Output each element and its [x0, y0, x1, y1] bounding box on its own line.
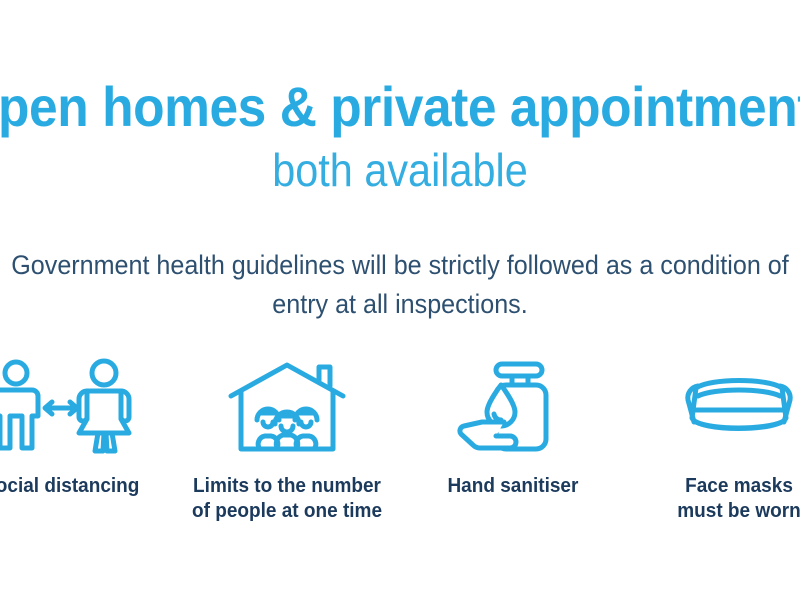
caption-line-1: Social distancing: [0, 475, 139, 497]
page-title: Open homes & private appointments: [0, 78, 800, 137]
body-paragraph-line-1: Government health guidelines will be str…: [0, 246, 800, 285]
body-paragraph-line-2: entry at all inspections.: [0, 285, 800, 324]
body-paragraph: Government health guidelines will be str…: [0, 246, 800, 324]
guideline-caption-face-mask: Face masks must be worn: [677, 474, 800, 524]
hand-sanitiser-icon: [458, 360, 568, 452]
guidelines-icon-row: Social distancing: [0, 360, 800, 524]
guideline-caption-social-distancing: Social distancing: [0, 474, 139, 499]
guideline-item-hand-sanitiser: Hand sanitiser: [400, 360, 626, 499]
guideline-item-social-distancing: Social distancing: [0, 360, 174, 499]
caption-line-1: Limits to the number: [193, 475, 381, 497]
poster-canvas: Open homes & private appointments both a…: [0, 0, 800, 600]
caption-line-2: must be worn: [677, 500, 800, 522]
caption-line-1: Hand sanitiser: [448, 475, 579, 497]
page-subtitle: both available: [0, 145, 800, 196]
guideline-item-people-limit: Limits to the number of people at one ti…: [174, 360, 400, 524]
social-distancing-icon: [0, 360, 136, 452]
guideline-caption-people-limit: Limits to the number of people at one ti…: [192, 474, 382, 524]
guideline-caption-hand-sanitiser: Hand sanitiser: [448, 474, 579, 499]
house-with-people-icon: [227, 360, 347, 452]
caption-line-2: of people at one time: [192, 500, 382, 522]
headline-block: Open homes & private appointments both a…: [0, 78, 800, 195]
guideline-item-face-mask: Face masks must be worn: [626, 360, 800, 524]
face-mask-icon: [674, 360, 800, 452]
caption-line-1: Face masks: [685, 475, 793, 497]
